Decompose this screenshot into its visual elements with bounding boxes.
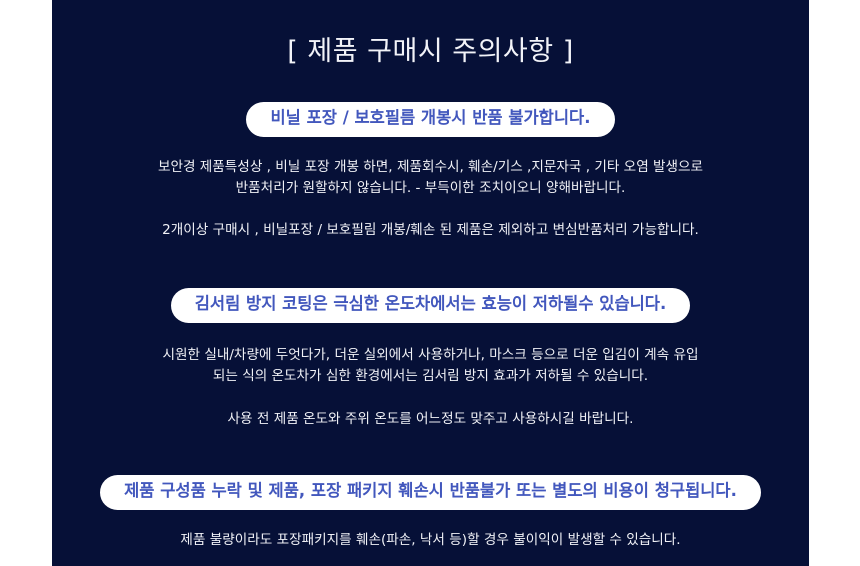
- notice-line: 보안경 제품특성상 , 비닐 포장 개봉 하면, 제품회수시, 훼손/기스 ,지…: [158, 159, 703, 175]
- notice-line: 시원한 실내/차량에 두엇다가, 더운 실외에서 사용하거나, 마스크 등으로 …: [163, 347, 699, 363]
- notice-paragraph: 2개이상 구매시 , 비닐포장 / 보호필림 개봉/훼손 된 제품은 제외하고 …: [162, 220, 699, 241]
- page-title: [ 제품 구매시 주의사항 ]: [287, 36, 573, 68]
- notice-paragraph: 제품 불량이라도 포장패키지를 훼손(파손, 낙서 등)할 경우 불이익이 발생…: [180, 530, 680, 551]
- notice-paragraph: 보안경 제품특성상 , 비닐 포장 개봉 하면, 제품회수시, 훼손/기스 ,지…: [158, 157, 703, 199]
- notice-section-components: 제품 구성품 누락 및 제품, 포장 패키지 훼손시 반품불가 또는 별도의 비…: [52, 475, 809, 551]
- notice-line: 2개이상 구매시 , 비닐포장 / 보호필림 개봉/훼손 된 제품은 제외하고 …: [162, 222, 699, 238]
- notice-line: 제품 불량이라도 포장패키지를 훼손(파손, 낙서 등)할 경우 불이익이 발생…: [180, 532, 680, 548]
- notice-section-anti-fog: 김서림 방지 코팅은 극심한 온도차에서는 효능이 저하될수 있습니다. 시원한…: [52, 288, 809, 430]
- notice-badge-components: 제품 구성품 누락 및 제품, 포장 패키지 훼손시 반품불가 또는 별도의 비…: [100, 475, 761, 510]
- purchase-notice-panel: [ 제품 구매시 주의사항 ] 비닐 포장 / 보호필름 개봉시 반품 불가합니…: [52, 0, 809, 566]
- notice-line: 반품처리가 원할하지 않습니다. - 부득이한 조치이오니 양해바랍니다.: [236, 180, 626, 196]
- notice-paragraph: 사용 전 제품 온도와 주위 온도를 어느정도 맞주고 사용하시길 바랍니다.: [228, 409, 634, 430]
- notice-paragraph: 시원한 실내/차량에 두엇다가, 더운 실외에서 사용하거나, 마스크 등으로 …: [163, 345, 699, 387]
- notice-badge-anti-fog: 김서림 방지 코팅은 극심한 온도차에서는 효능이 저하될수 있습니다.: [171, 288, 691, 323]
- notice-line: 사용 전 제품 온도와 주위 온도를 어느정도 맞주고 사용하시길 바랍니다.: [228, 411, 634, 427]
- notice-section-packaging: 비닐 포장 / 보호필름 개봉시 반품 불가합니다. 보안경 제품특성상 , 비…: [52, 102, 809, 241]
- notice-line: 되는 식의 온도차가 심한 환경에서는 김서림 방지 효과가 저하될 수 있습니…: [213, 368, 648, 384]
- notice-badge-packaging: 비닐 포장 / 보호필름 개봉시 반품 불가합니다.: [246, 102, 614, 137]
